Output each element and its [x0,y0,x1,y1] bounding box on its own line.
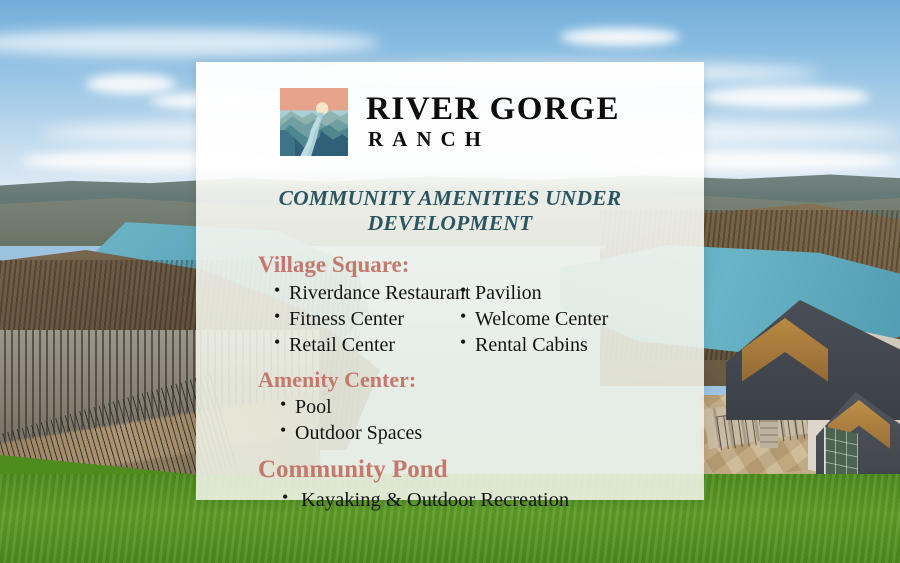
section-title-village-square: Village Square: [196,252,704,277]
wordmark: RIVER GORGE RANCH [366,93,620,151]
section-title-amenity-center: Amenity Center: [196,368,704,392]
list-item: Welcome Center [460,306,682,332]
brand-header: RIVER GORGE RANCH [196,62,704,170]
list-item: Kayaking & Outdoor Recreation [282,487,704,514]
river-gorge-landscape-icon [280,88,348,156]
amenity-center-list: Pool Outdoor Spaces [196,394,704,446]
page-title: COMMUNITY AMENITIES UNDER DEVELOPMENT [196,186,704,236]
list-item: Pavilion [460,280,682,306]
section-title-community-pond: Community Pond [196,456,704,484]
list-item: Pool [280,394,704,420]
list-item: Outdoor Spaces [280,420,704,446]
list-item: Rental Cabins [460,332,682,358]
list-item: Riverdance Restaurant [274,280,442,306]
list-item: Retail Center [274,332,442,358]
community-pond-list: Kayaking & Outdoor Recreation [196,487,704,514]
village-square-list-right: Pavilion Welcome Center Rental Cabins [442,280,682,358]
brand-name-primary: RIVER GORGE [366,93,620,127]
village-square-columns: Riverdance Restaurant Fitness Center Ret… [196,280,704,358]
amenities-panel: RIVER GORGE RANCH COMMUNITY AMENITIES UN… [196,62,704,500]
village-square-list-left: Riverdance Restaurant Fitness Center Ret… [196,280,442,358]
brand-name-secondary: RANCH [366,127,620,151]
list-item: Fitness Center [274,306,442,332]
